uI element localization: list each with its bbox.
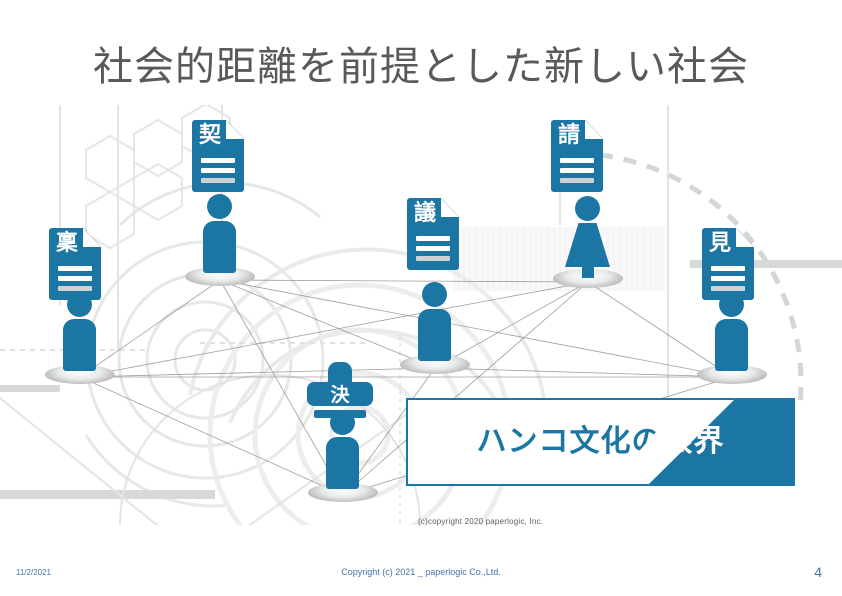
doc-ringi-icon: 稟 — [49, 228, 101, 300]
stamp-base — [314, 410, 366, 418]
doc-sei-icon: 請 — [551, 120, 603, 192]
person-body-male — [326, 437, 359, 489]
document-text-line — [711, 276, 745, 281]
document-text-line — [201, 178, 235, 183]
document-kanji: 稟 — [53, 231, 81, 257]
document-text-line — [416, 236, 450, 241]
person-left — [45, 292, 115, 384]
person-upper-right — [553, 196, 623, 288]
page-number: 4 — [814, 564, 822, 580]
hanko-stamp-icon: 決 — [307, 362, 373, 418]
person-body-male — [418, 309, 451, 361]
illustration-copyright: (c)copyright 2020 paperlogic, Inc. — [418, 517, 543, 526]
person-head — [422, 282, 447, 307]
person-body-female — [565, 223, 610, 267]
document-text-line — [201, 168, 235, 173]
person-body-male — [203, 221, 236, 273]
doc-keiyaku-icon: 契 — [192, 120, 244, 192]
slide-canvas: 社会的距離を前提とした新しい社会 — [0, 0, 842, 596]
page-title: 社会的距離を前提とした新しい社会 — [0, 34, 842, 92]
person-head — [575, 196, 600, 221]
document-kanji: 請 — [555, 123, 583, 149]
person-head — [207, 194, 232, 219]
document-text-line — [58, 266, 92, 271]
person-upper-left — [185, 194, 255, 286]
person-legs — [582, 262, 594, 278]
banner: ハンコ文化の限界 ハンコ文化の限界 — [406, 398, 795, 486]
document-kanji: 契 — [196, 123, 224, 149]
document-text-line — [416, 246, 450, 251]
slide-footer: 11/2/2021 Copyright (c) 2021 _ paperlogi… — [0, 564, 842, 588]
document-text-line — [560, 168, 594, 173]
doc-mi-icon: 見 — [702, 228, 754, 300]
document-text-line — [560, 178, 594, 183]
document-text-line — [711, 286, 745, 291]
stamp-kanji: 決 — [307, 383, 373, 407]
doc-gi-icon: 議 — [407, 198, 459, 270]
person-right — [697, 292, 767, 384]
document-text-line — [58, 286, 92, 291]
document-text-line — [416, 256, 450, 261]
person-center — [400, 282, 470, 374]
document-kanji: 見 — [706, 231, 734, 257]
person-body-male — [63, 319, 96, 371]
document-text-line — [201, 158, 235, 163]
document-text-line — [560, 158, 594, 163]
document-kanji: 議 — [411, 201, 439, 227]
person-bottom — [308, 410, 378, 502]
person-body-male — [715, 319, 748, 371]
footer-copyright: Copyright (c) 2021 _ paperlogic Co.,Ltd. — [0, 567, 842, 577]
document-text-line — [58, 276, 92, 281]
document-text-line — [711, 266, 745, 271]
